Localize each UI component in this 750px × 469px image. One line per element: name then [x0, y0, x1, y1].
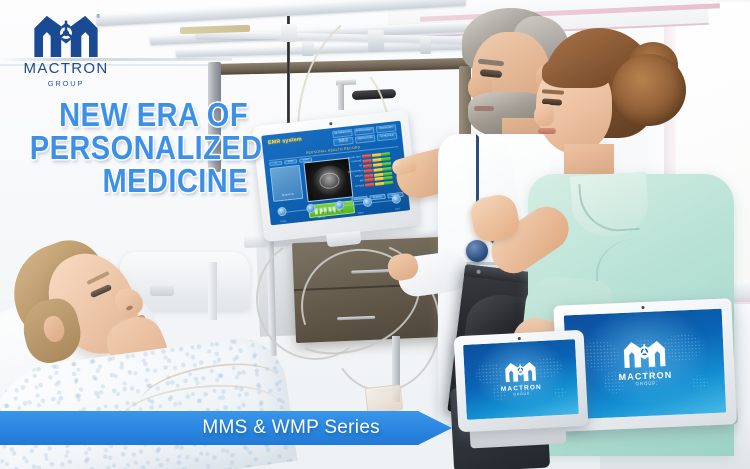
- metric-label: GLUCOSE: [347, 161, 362, 165]
- registered-trademark-icon: ®: [96, 14, 100, 20]
- emr-screen[interactable]: EMR system INFORMATION APPOINTMENT DIAGN…: [261, 121, 410, 226]
- patient-photo-label: PATIENT ID: [274, 193, 302, 198]
- emr-title: EMR system: [268, 136, 303, 146]
- headline: NEW ERA OF PERSONALIZED MEDICINE: [0, 98, 262, 197]
- logo-mark: ®: [30, 12, 102, 58]
- screen-brand-group: GROUP: [513, 391, 530, 396]
- footer-button-exit[interactable]: EXIT: [395, 208, 400, 210]
- iv-pole-clip: [281, 24, 297, 42]
- id-chip: ID: [269, 161, 282, 166]
- name-chip: NAME: [284, 159, 297, 164]
- tablet-camera-icon: [641, 306, 644, 309]
- screen-logo: MACTRON GROUP: [464, 356, 578, 399]
- iv-fluid-bag: [365, 384, 404, 414]
- brand-name: MACTRON: [18, 61, 114, 76]
- nurse-lips: [538, 128, 556, 134]
- rail-joint: [302, 42, 314, 56]
- series-banner-label: MMS & WMP Series: [202, 417, 380, 439]
- screen-brand-group: GROUP: [635, 380, 656, 386]
- doctor-mouth: [474, 106, 494, 111]
- nav-dot[interactable]: [277, 207, 287, 217]
- emr-monitor[interactable]: EMR system INFORMATION APPOINTMENT DIAGN…: [252, 110, 420, 242]
- bed-rail-post: [208, 262, 217, 320]
- metric-label: CHOLESTEROL: [348, 170, 363, 174]
- tab-schedule[interactable]: SCHEDULE: [377, 132, 398, 141]
- tab-medication[interactable]: MEDICATION: [355, 135, 376, 144]
- tablet-screen[interactable]: MACTRON GROUP: [463, 339, 579, 420]
- nav-dot[interactable]: [391, 194, 401, 204]
- rail-joint: [420, 36, 431, 54]
- tablet-screen[interactable]: MACTRON GROUP: [564, 309, 726, 420]
- patient-photo-panel: PATIENT ID: [270, 165, 303, 202]
- metric-label: WEIGHT: [348, 175, 363, 179]
- tablet-camera-icon: [517, 337, 520, 340]
- metric-label: BMI: [349, 180, 364, 184]
- nurse-hair-bun: [612, 54, 686, 126]
- nurse-nose: [534, 104, 554, 126]
- mactron-m-logo-icon: [30, 12, 102, 58]
- mactron-m-logo-icon: [503, 358, 538, 384]
- headline-line-1: NEW ERA OF: [30, 98, 248, 131]
- brand-logo[interactable]: ® MACTRON GROUP: [18, 12, 114, 90]
- series-banner: MMS & WMP Series: [0, 411, 452, 445]
- nav-dot[interactable]: [306, 203, 316, 213]
- brand-group-label: GROUP: [18, 79, 114, 88]
- mms-tablet-small[interactable]: MACTRON GROUP: [454, 330, 589, 433]
- tab-health-status[interactable]: HEALTH STATUS: [333, 137, 354, 146]
- bed-rail-slot: [150, 286, 174, 296]
- metric-label: BP: [347, 165, 362, 169]
- mactron-m-logo-icon: [621, 336, 668, 370]
- marketing-banner: EMR system INFORMATION APPOINTMENT DIAGN…: [0, 0, 750, 469]
- footer-button-print[interactable]: PRINT: [358, 212, 364, 215]
- metric-label: BLOOD TEST: [346, 156, 361, 160]
- nurse-fringe: [542, 54, 610, 88]
- footer-button-exam[interactable]: EXAM: [281, 221, 287, 224]
- headline-line-3: MEDICINE: [30, 164, 248, 197]
- screen-logo: MACTRON GROUP: [565, 334, 725, 390]
- nav-dot[interactable]: [363, 197, 373, 207]
- metric-gauge: [365, 181, 393, 187]
- footer-button-report[interactable]: REPORT: [318, 216, 326, 219]
- monitor-camera-icon: [329, 122, 332, 125]
- metric-label: OXYGEN: [349, 185, 364, 189]
- nav-dot[interactable]: [334, 200, 344, 210]
- stethoscope-chestpiece-icon: [466, 240, 488, 262]
- headline-line-2: PERSONALIZED: [30, 131, 248, 164]
